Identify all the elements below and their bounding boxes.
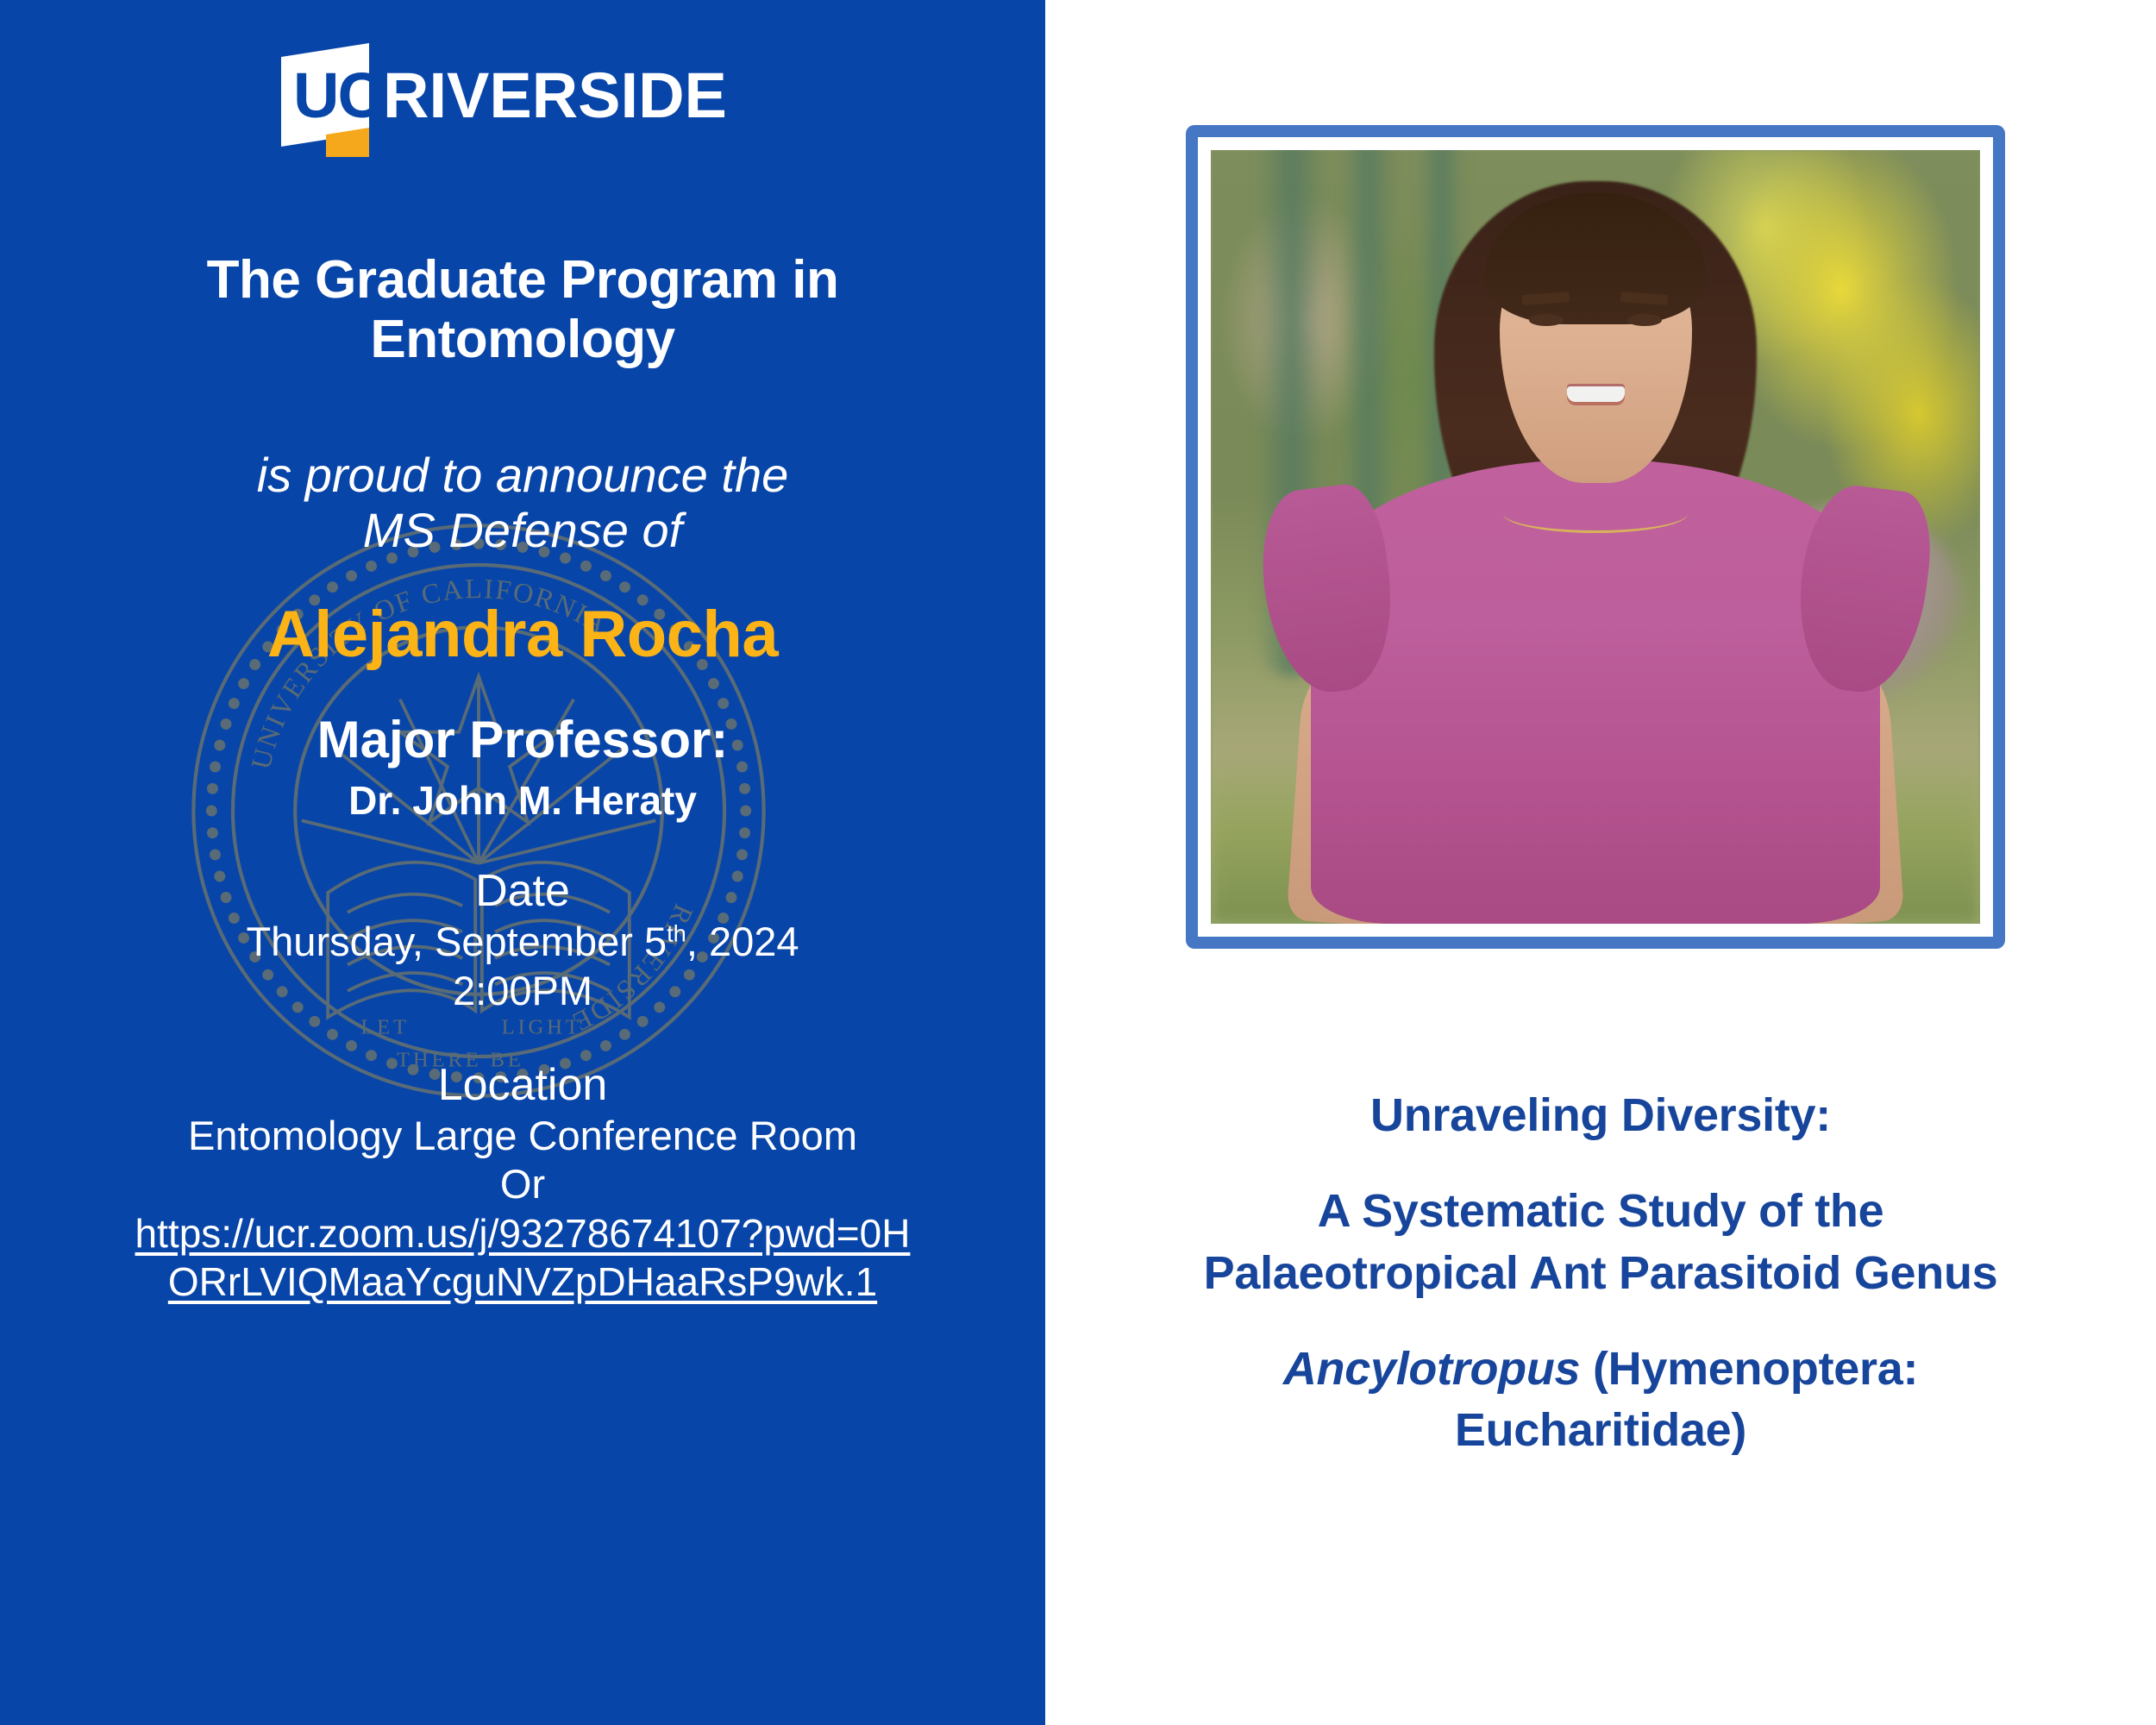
date-value: Thursday, September 5th, 2024 <box>21 918 1025 966</box>
date-suffix: , 2024 <box>686 919 799 964</box>
left-content: The Graduate Program in Entomology is pr… <box>0 250 1045 1306</box>
eye-right <box>1627 314 1661 325</box>
candidate-name: Alejandra Rocha <box>21 599 1025 671</box>
thesis-title-line3: Palaeotropical Ant Parasitoid Genus <box>1097 1243 2104 1304</box>
zoom-link-line1[interactable]: https://ucr.zoom.us/j/93278674107?pwd=0H <box>21 1209 1025 1258</box>
program-heading-line2: Entomology <box>21 310 1025 369</box>
major-professor-label: Major Professor: <box>21 712 1025 768</box>
svg-text:RIVERSIDE: RIVERSIDE <box>383 60 727 131</box>
thesis-title-line1: Unraveling Diversity: <box>1097 1085 2104 1146</box>
location-label: Location <box>21 1060 1025 1112</box>
thesis-title-line2: A Systematic Study of the <box>1097 1181 2104 1242</box>
eye-left <box>1529 314 1563 325</box>
defense-announcement-poster: UNIVERSITY OF CALIFORNIA RIVERSIDE LET L… <box>0 0 2156 1725</box>
candidate-portrait <box>1211 150 1980 924</box>
mouth <box>1567 386 1625 402</box>
portrait-frame <box>1186 125 2005 949</box>
major-professor-name: Dr. John M. Heraty <box>21 777 1025 825</box>
program-heading: The Graduate Program in Entomology <box>21 250 1025 370</box>
date-ordinal: th <box>667 920 686 947</box>
program-heading-line1: The Graduate Program in <box>21 250 1025 310</box>
thesis-title-line4-rest: (Hymenoptera: <box>1580 1343 1918 1395</box>
location-room: Entomology Large Conference Room <box>21 1112 1025 1160</box>
svg-text:UC: UC <box>293 60 382 131</box>
thesis-genus-name: Ancylotropus <box>1283 1343 1580 1395</box>
uc-riverside-logo-icon: UC RIVERSIDE <box>273 38 773 159</box>
left-info-panel: UNIVERSITY OF CALIFORNIA RIVERSIDE LET L… <box>0 0 1045 1725</box>
zoom-link-line2[interactable]: ORrLVIQMaaYcguNVZpDHaaRsP9wk.1 <box>21 1258 1025 1306</box>
logo-container: UC RIVERSIDE <box>0 38 1045 159</box>
right-content-panel: Unraveling Diversity: A Systematic Study… <box>1045 0 2156 1725</box>
announcement-text: is proud to announce the MS Defense of <box>21 448 1025 559</box>
date-prefix: Thursday, September 5 <box>246 919 667 964</box>
thesis-title-line4: Ancylotropus (Hymenoptera: <box>1097 1339 2104 1400</box>
portrait-mat <box>1198 137 1993 937</box>
thesis-title-block: Unraveling Diversity: A Systematic Study… <box>1097 1085 2104 1461</box>
portrait-subject <box>1211 150 1980 924</box>
location-or: Or <box>21 1160 1025 1208</box>
necklace <box>1503 494 1688 533</box>
time-value: 2:00PM <box>21 967 1025 1015</box>
thesis-title-line5: Eucharitidae) <box>1097 1400 2104 1461</box>
announce-line2: MS Defense of <box>21 503 1025 558</box>
date-label: Date <box>21 866 1025 918</box>
announce-line1: is proud to announce the <box>21 448 1025 503</box>
